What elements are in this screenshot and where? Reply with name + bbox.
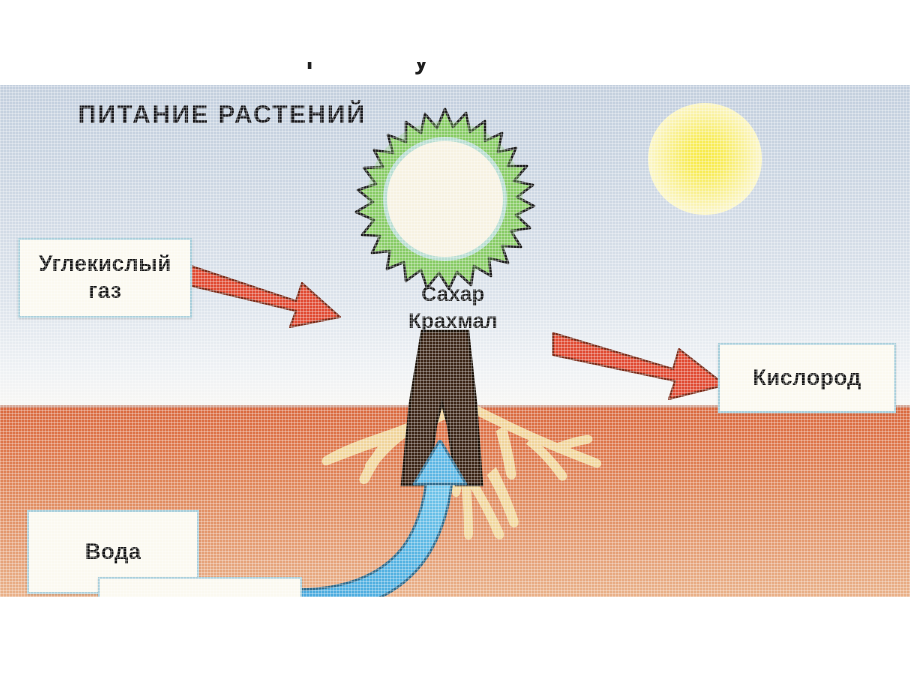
- co2-label-line-2: газ: [39, 278, 171, 305]
- oxygen-label-line-1: Кислород: [753, 365, 861, 392]
- water-label-line-1: Вода: [85, 539, 141, 566]
- clipped-glyph-1: і: [306, 62, 313, 76]
- co2-label-line-1: Углекислый: [39, 251, 171, 278]
- sun-icon: [648, 103, 762, 215]
- o2-red-arrow-icon: [551, 327, 727, 405]
- co2-red-arrow-icon: [186, 261, 342, 335]
- page-title: ПИТАНИЕ РАСТЕНИЙ: [78, 101, 366, 130]
- clipped-text-strip: і у: [0, 62, 910, 84]
- clipped-glyph-2: у: [414, 62, 428, 76]
- label-box-dissolved-salts[interactable]: Растворённые соли: [98, 577, 302, 597]
- curved-blue-arrow-icon: [270, 440, 540, 597]
- figure-page: і у: [0, 0, 910, 683]
- label-box-carbon-dioxide[interactable]: Углекислый газ: [18, 238, 192, 318]
- salts-label-line-1: Растворённые: [123, 595, 278, 597]
- illustration-plate: Сахар Крахмал ПИТ: [0, 85, 910, 597]
- label-box-oxygen[interactable]: Кислород: [718, 343, 896, 413]
